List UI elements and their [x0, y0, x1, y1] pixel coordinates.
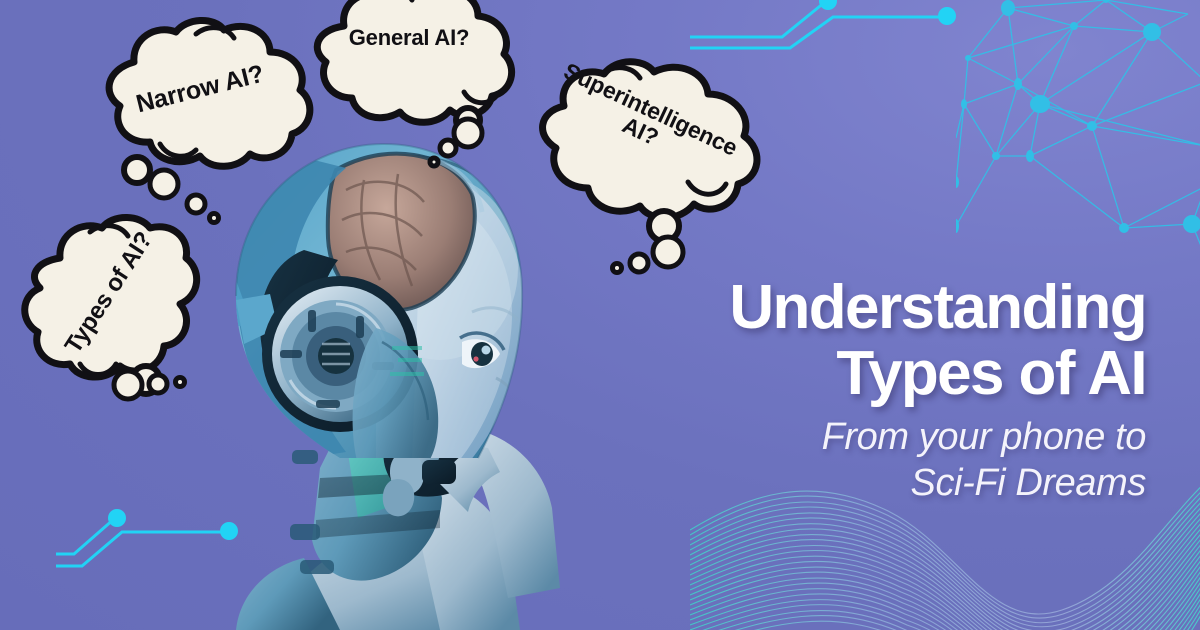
headline-block: Understanding Types of AI From your phon…	[676, 276, 1146, 506]
thought-bubble-narrow-ai: Narrow AI?	[74, 18, 324, 188]
ai-banner-canvas: Narrow AI? General AI?	[0, 0, 1200, 630]
thought-bubble-general-ai: General AI?	[300, 0, 515, 136]
thought-bubble-general-ai-label: General AI?	[314, 26, 504, 49]
subtitle-line1: From your phone to	[676, 414, 1146, 460]
thought-bubble-superintelligence-ai: Superintelligence AI?	[512, 58, 777, 238]
page-title-line1: Understanding	[676, 276, 1146, 340]
page-title-line2: Types of AI	[676, 342, 1146, 406]
subtitle-line2: Sci-Fi Dreams	[676, 460, 1146, 506]
thought-bubble-types-of-ai: Types of AI?	[14, 218, 204, 398]
